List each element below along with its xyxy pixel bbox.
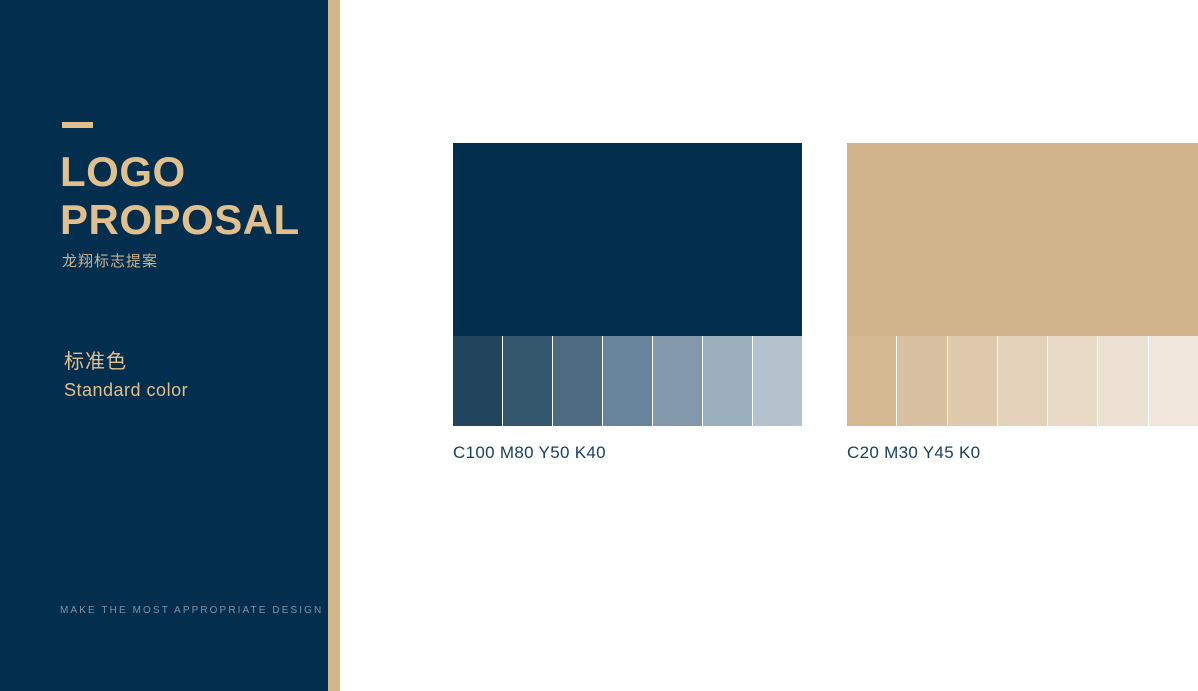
page-title-line-2: PROPOSAL [60,196,320,244]
tan-tint-3 [948,336,998,426]
tan-tint-2 [897,336,947,426]
cover-panel: LOGO PROPOSAL 龙翔标志提案 标准色 Standard color … [0,0,328,691]
navy-palette: C100 M80 Y50 K40 [453,143,802,463]
tan-tint-5 [1048,336,1098,426]
navy-palette-cmyk-label: C100 M80 Y50 K40 [453,443,802,463]
navy-tint-7 [753,336,802,426]
section-heading-cn: 标准色 [64,348,188,376]
tan-palette: C20 M30 Y45 K0 [847,143,1198,463]
section-heading: 标准色 Standard color [64,348,188,404]
navy-tint-5 [653,336,703,426]
tan-tint-4 [998,336,1048,426]
tan-palette-main-swatch [847,143,1198,336]
navy-tint-4 [603,336,653,426]
tan-tint-6 [1098,336,1148,426]
tan-tint-1 [847,336,897,426]
navy-tint-2 [503,336,553,426]
navy-tint-3 [553,336,603,426]
navy-palette-tint-strip [453,336,802,426]
tan-palette-cmyk-label: C20 M30 Y45 K0 [847,443,1198,463]
gold-vertical-divider [328,0,340,691]
tan-palette-tint-strip [847,336,1198,426]
tan-tint-7 [1149,336,1198,426]
navy-tint-1 [453,336,503,426]
navy-palette-main-swatch [453,143,802,336]
gold-dash-accent [62,122,93,128]
page-title: LOGO PROPOSAL [60,148,320,244]
section-heading-en: Standard color [64,376,188,404]
page-subtitle: 龙翔标志提案 [62,250,158,271]
page-title-line-1: LOGO [60,148,320,196]
cover-footer-tagline: MAKE THE MOST APPROPRIATE DESIGN [60,605,323,616]
navy-tint-6 [703,336,753,426]
